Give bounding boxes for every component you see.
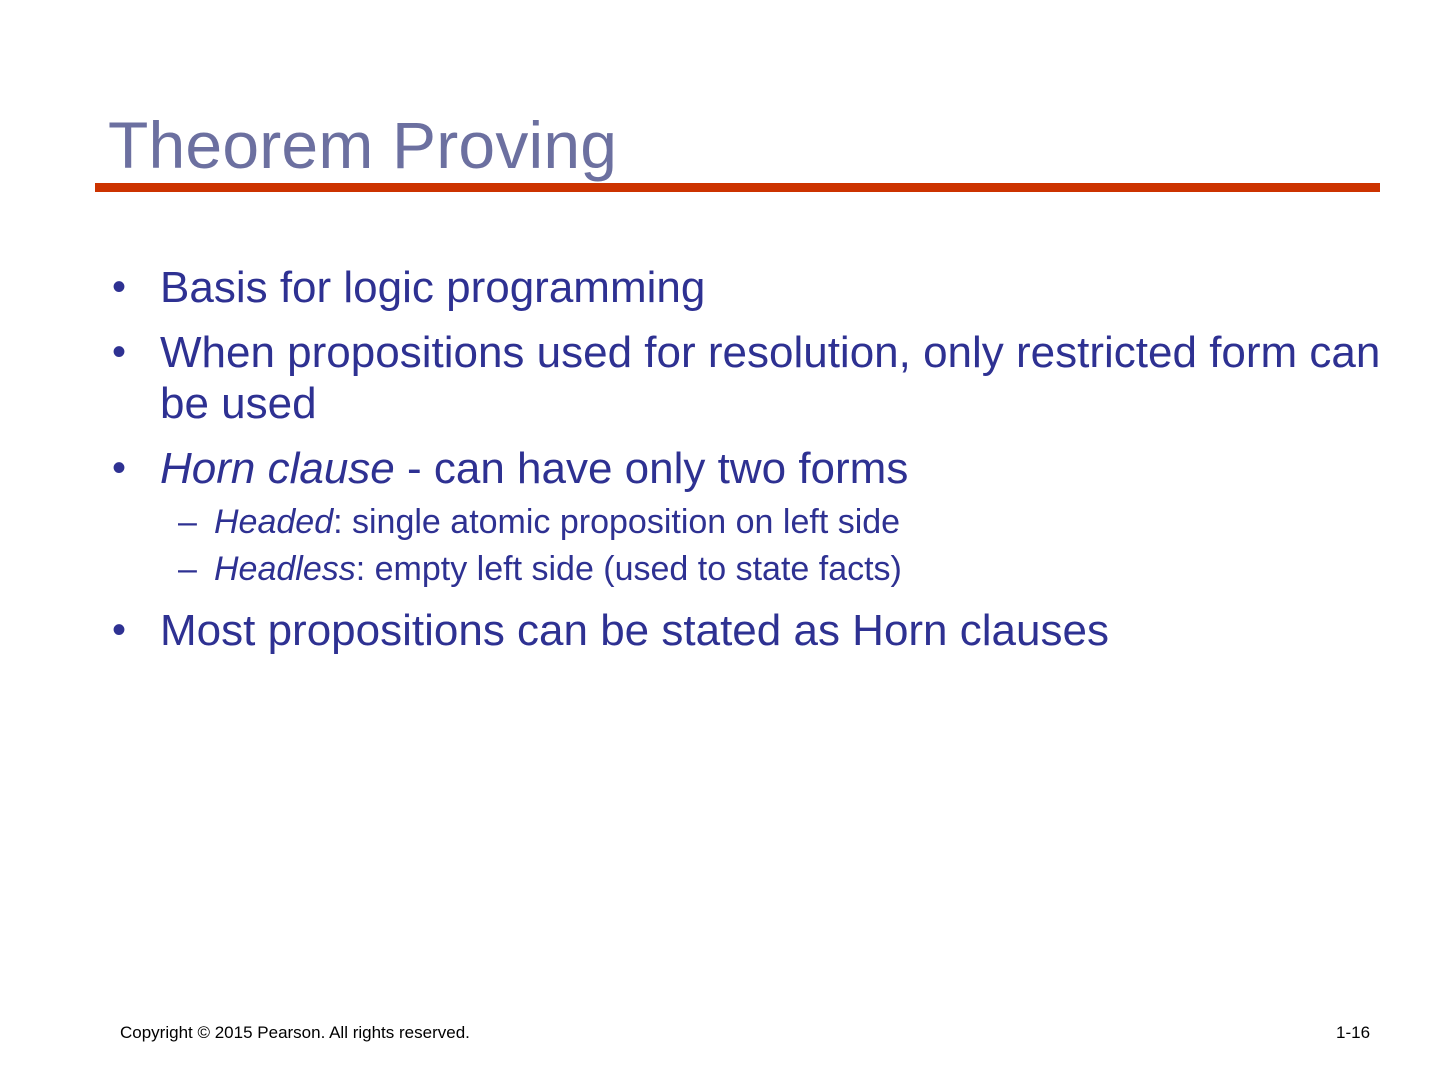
list-item: • Basis for logic programming: [104, 262, 1394, 313]
list-item-text-emphasis: Horn clause: [160, 444, 395, 493]
title-divider-rule: [95, 183, 1380, 192]
bullet-dot-icon: •: [104, 262, 160, 313]
bullet-dot-icon: •: [104, 327, 160, 378]
list-item-text-regular: Most propositions can be stated as Horn …: [160, 606, 1109, 655]
sub-list-item: – Headless: empty left side (used to sta…: [104, 549, 1394, 589]
list-item-text: Horn clause - can have only two forms: [160, 443, 1394, 494]
footer-copyright: Copyright © 2015 Pearson. All rights res…: [120, 1023, 470, 1043]
sub-list-item-text-emphasis: Headless: [214, 550, 356, 588]
list-item-text-regular: When propositions used for resolution, o…: [160, 328, 1380, 428]
list-item: • When propositions used for resolution,…: [104, 327, 1394, 429]
list-item-text: Basis for logic programming: [160, 262, 1394, 313]
list-item-text: When propositions used for resolution, o…: [160, 327, 1394, 429]
list-item-text: Most propositions can be stated as Horn …: [160, 605, 1394, 656]
list-item-text-regular: - can have only two forms: [395, 444, 909, 493]
sub-list-item-text-emphasis: Headed: [214, 503, 333, 541]
page-title: Theorem Proving: [108, 110, 617, 181]
bullet-dash-icon: –: [178, 549, 214, 589]
bullet-list: • Basis for logic programming • When pro…: [104, 262, 1394, 662]
sub-list-item: – Headed: single atomic proposition on l…: [104, 502, 1394, 542]
footer-page-number: 1-16: [1336, 1023, 1370, 1043]
sub-list-item-text: Headed: single atomic proposition on lef…: [214, 502, 1394, 542]
sub-list-item-text-regular: : empty left side (used to state facts): [356, 550, 902, 588]
bullet-dash-icon: –: [178, 502, 214, 542]
list-item-text-regular: Basis for logic programming: [160, 263, 705, 312]
sub-list-item-text-regular: : single atomic proposition on left side: [333, 503, 900, 541]
bullet-dot-icon: •: [104, 605, 160, 656]
bullet-dot-icon: •: [104, 443, 160, 494]
slide-canvas: Theorem Proving • Basis for logic progra…: [0, 0, 1440, 1080]
list-item: • Most propositions can be stated as Hor…: [104, 605, 1394, 656]
list-item: • Horn clause - can have only two forms: [104, 443, 1394, 494]
sub-list-item-text: Headless: empty left side (used to state…: [214, 549, 1394, 589]
